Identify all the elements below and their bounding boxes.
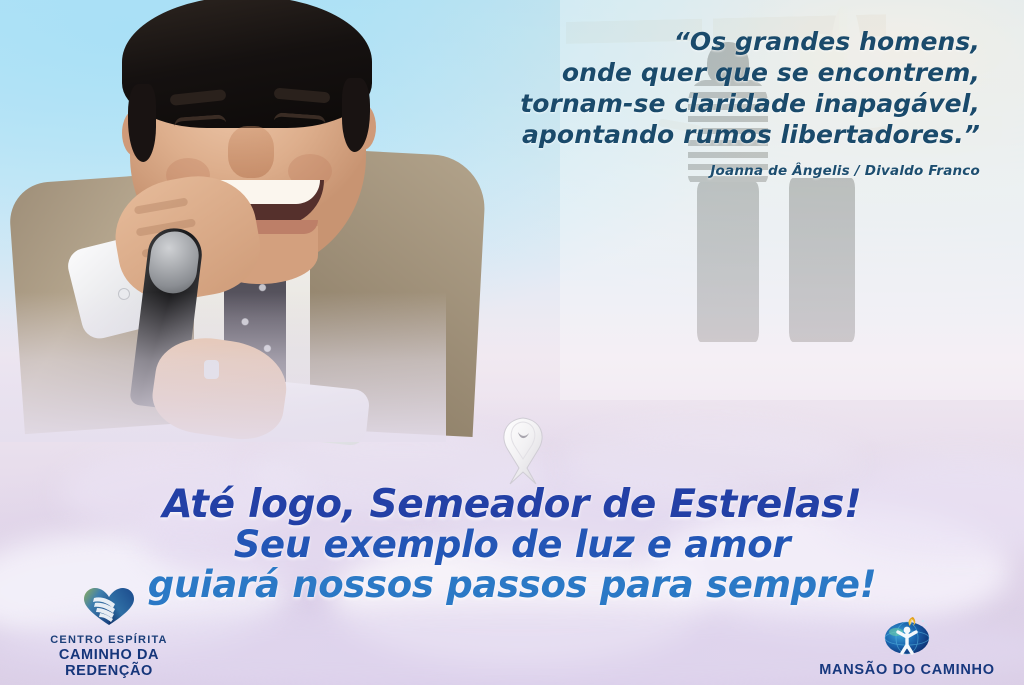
headline-line-2: Seu exemplo de luz e amor [0,525,1024,565]
quote-attribution: Joanna de Ângelis / Divaldo Franco [420,163,980,179]
portrait-divaldo-franco [0,0,458,432]
quote-line-4: apontando rumos libertadores.” [420,119,980,150]
quote-line-1: “Os grandes homens, [420,26,980,57]
quote-block: “Os grandes homens, onde quer que se enc… [420,26,980,179]
logo-right-line-1: MANSÃO DO CAMINHO [802,662,1012,679]
logo-centro-espirita-caminho-da-redencao[interactable]: CENTRO ESPÍRITA CAMINHO DA REDENÇÃO [14,587,204,679]
logo-mansao-do-caminho[interactable]: MANSÃO DO CAMINHO [802,613,1012,679]
logo-left-line-1: CENTRO ESPÍRITA [14,634,204,647]
logo-left-line-2: CAMINHO DA REDENÇÃO [14,647,204,679]
quote-line-2: onde quer que se encontrem, [420,57,980,88]
headline-line-1: Até logo, Semeador de Estrelas! [0,484,1024,525]
mourning-ribbon-icon [488,410,558,488]
hands-heart-icon [14,587,204,632]
memorial-poster: “Os grandes homens, onde quer que se enc… [0,0,1024,685]
globe-figure-torch-icon [802,613,1012,660]
quote-line-3: tornam-se claridade inapagável, [420,88,980,119]
